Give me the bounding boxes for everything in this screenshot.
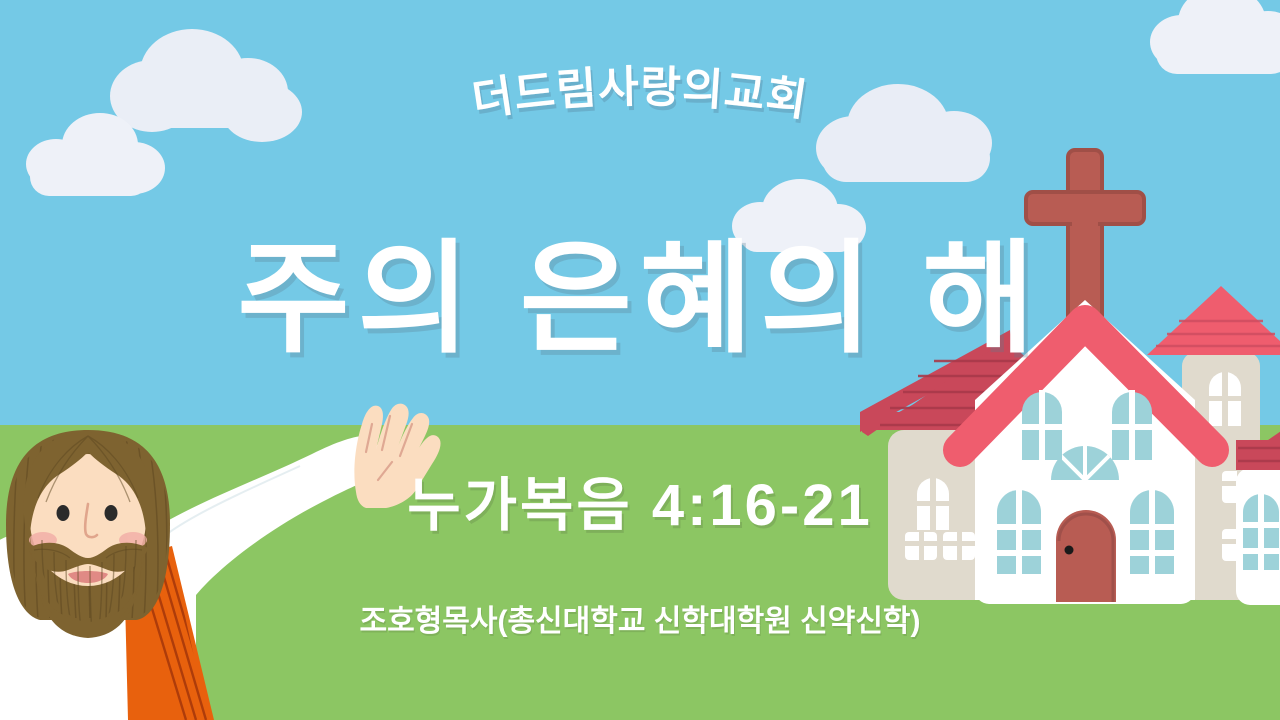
jesus-figure [0,0,1280,720]
slide-canvas: 더드림사랑의교회 주의 은혜의 해 누가복음 4:16-21 조호형목사(총신대… [0,0,1280,720]
raised-hand [354,404,440,508]
